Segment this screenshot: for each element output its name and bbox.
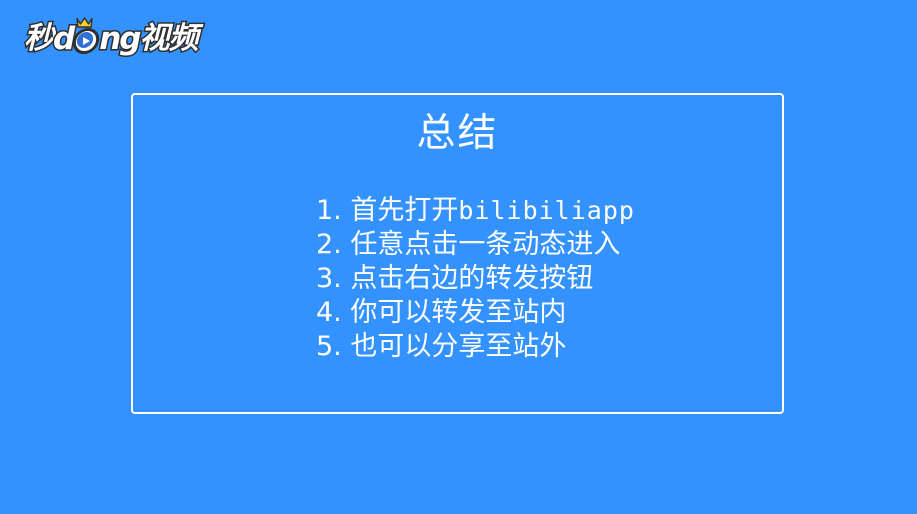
- step-text: 也可以分享至站外: [350, 331, 566, 362]
- play-icon: [83, 37, 90, 45]
- step-text: 首先打开: [350, 195, 458, 226]
- list-item: 3. 点击右边的转发按钮: [316, 262, 635, 296]
- page-title: 总结: [133, 113, 782, 156]
- step-number: 5.: [316, 331, 342, 362]
- list-item: 5. 也可以分享至站外: [316, 330, 635, 364]
- step-number: 3.: [316, 263, 342, 294]
- step-text: 任意点击一条动态进入: [350, 229, 620, 260]
- summary-panel: 总结 1. 首先打开bilibiliapp 2. 任意点击一条动态进入 3. 点…: [131, 93, 784, 414]
- logo-char-miao: 秒: [24, 24, 53, 54]
- list-item: 1. 首先打开bilibiliapp: [316, 194, 635, 228]
- step-number: 4.: [316, 297, 342, 328]
- step-text: 点击右边的转发按钮: [350, 263, 593, 294]
- summary-step-list: 1. 首先打开bilibiliapp 2. 任意点击一条动态进入 3. 点击右边…: [316, 194, 635, 364]
- list-item: 4. 你可以转发至站内: [316, 296, 635, 330]
- step-number: 2.: [316, 229, 342, 260]
- logo-letter-d: d: [53, 24, 73, 55]
- logo-letters-ng: ng: [99, 24, 139, 55]
- logo-chars-shipin: 视频: [139, 24, 197, 54]
- crown-icon: [76, 17, 93, 28]
- step-number: 1.: [316, 195, 342, 226]
- logo-letter-o-play: [73, 26, 99, 52]
- step-latin-text: bilibiliapp: [458, 196, 635, 225]
- step-text: 你可以转发至站内: [350, 297, 566, 328]
- summary-slide: 秒 d ng 视频 总结 1. 首先打开bilibiliapp 2. 任意点击一…: [0, 0, 917, 514]
- list-item: 2. 任意点击一条动态进入: [316, 228, 635, 262]
- miaodong-video-logo: 秒 d ng 视频: [24, 18, 197, 60]
